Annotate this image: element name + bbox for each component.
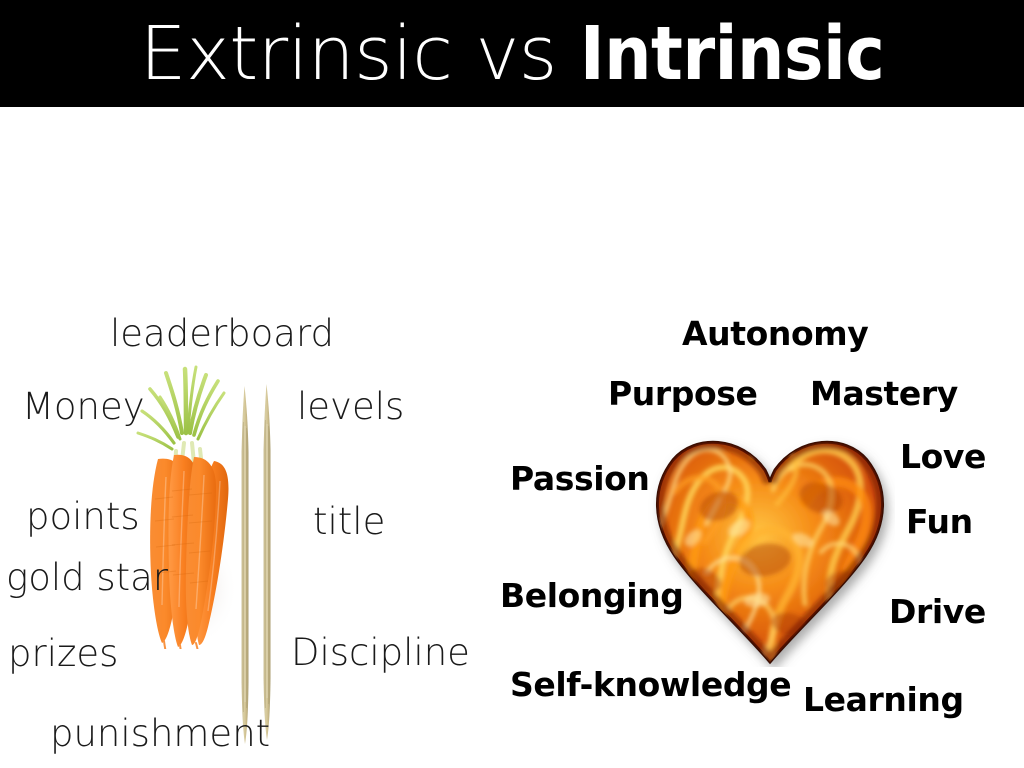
intrinsic-word-love: Love [900, 440, 986, 473]
intrinsic-word-passion: Passion [510, 462, 650, 495]
extrinsic-word-title: title [313, 503, 385, 540]
title-bar: Extrinsic vs Intrinsic [0, 0, 1024, 107]
extrinsic-word-money: Money [22, 388, 145, 425]
extrinsic-word-points: points [26, 498, 140, 535]
intrinsic-word-autonomy: Autonomy [682, 317, 868, 350]
page-title: Extrinsic vs Intrinsic [0, 0, 1024, 107]
title-bold-part: Intrinsic [580, 17, 884, 91]
intrinsic-word-learning: Learning [803, 683, 964, 716]
flaming-heart-image [645, 432, 895, 667]
extrinsic-word-punishment: punishment [50, 715, 270, 752]
extrinsic-word-levels: levels [297, 388, 404, 425]
slide-body: leaderboard Money levels points title go… [0, 107, 1024, 768]
intrinsic-word-drive: Drive [889, 595, 986, 628]
extrinsic-word-prizes: prizes [8, 635, 118, 672]
carrot-bundle-image [128, 359, 246, 649]
intrinsic-word-mastery: Mastery [810, 377, 958, 410]
intrinsic-word-self-knowledge: Self-knowledge [510, 668, 791, 701]
intrinsic-word-fun: Fun [906, 505, 973, 538]
extrinsic-word-discipline: Discipline [291, 634, 470, 671]
intrinsic-word-belonging: Belonging [500, 579, 683, 612]
intrinsic-word-purpose: Purpose [608, 377, 757, 410]
title-regular-part: Extrinsic vs [140, 17, 580, 91]
stick-skewers-image [238, 382, 286, 750]
extrinsic-word-leaderboard: leaderboard [110, 315, 334, 352]
extrinsic-word-gold-star: gold star [6, 559, 168, 596]
